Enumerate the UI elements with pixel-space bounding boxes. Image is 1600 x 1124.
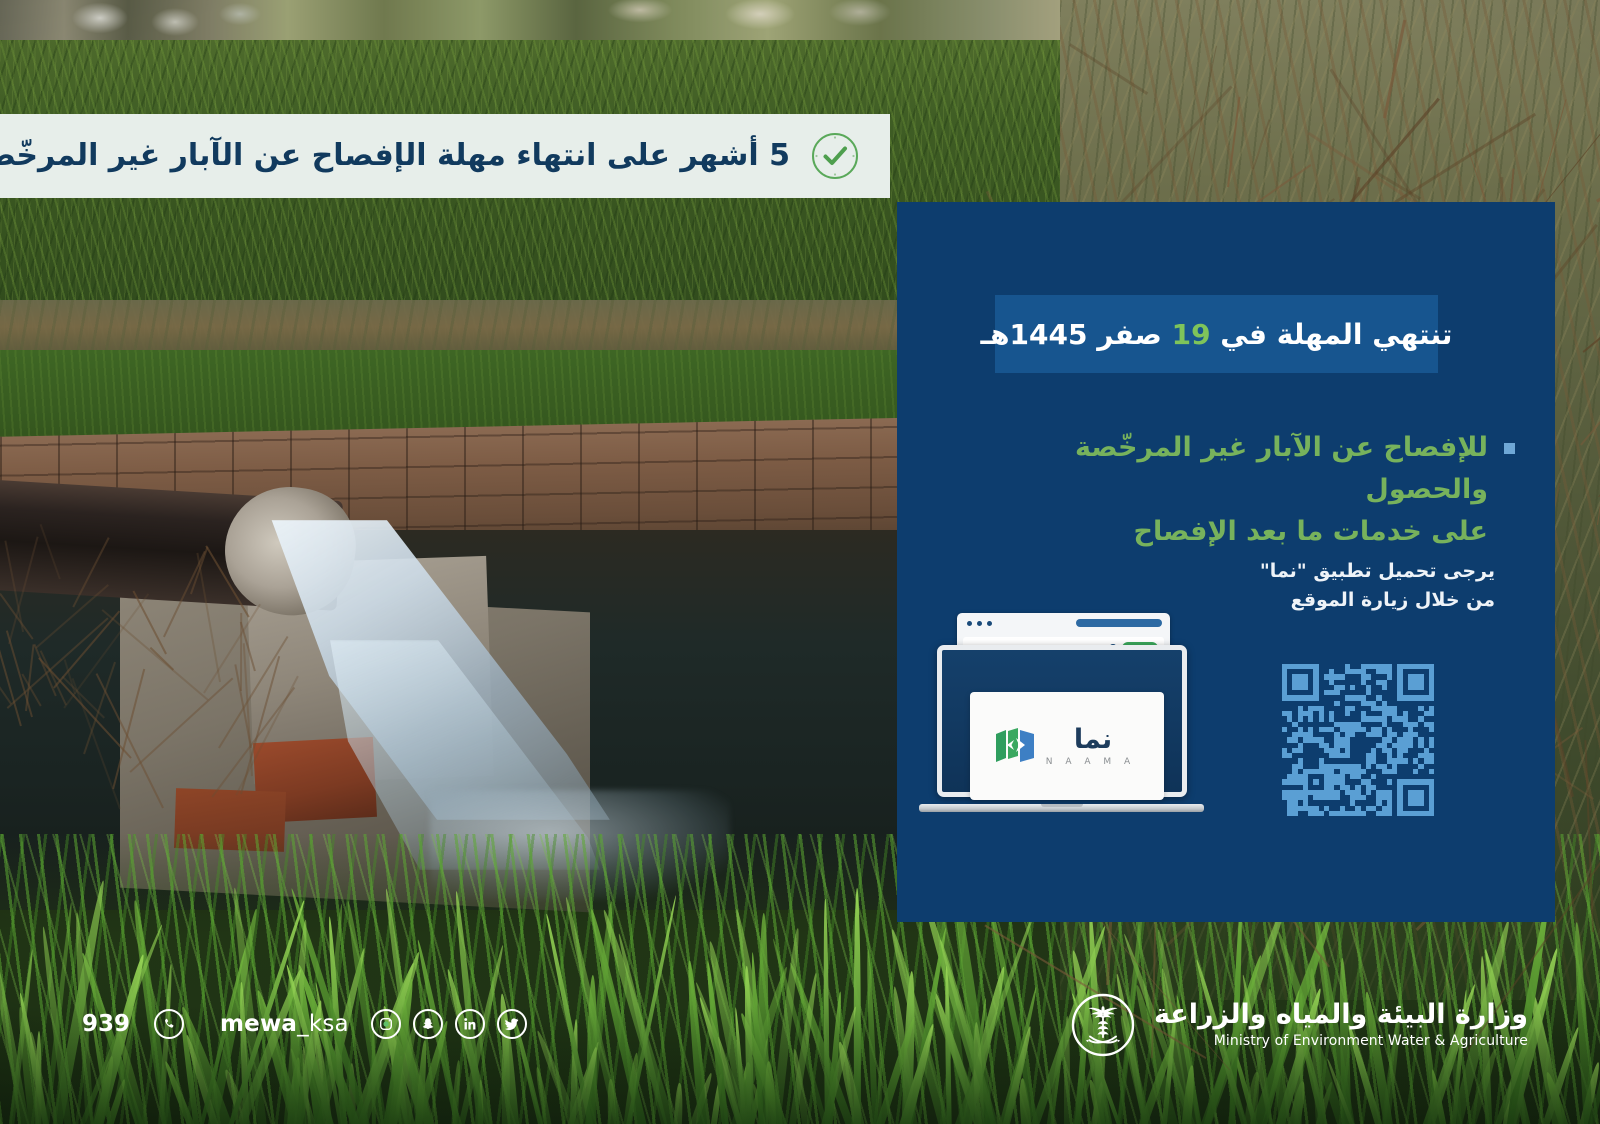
bullet-line-1: للإفصاح عن الآبار غير المرخّصة والحصول [945, 427, 1488, 511]
poster-root: 5 أشهر على انتهاء مهلة الإفصاح عن الآبار… [0, 0, 1600, 1124]
deadline-text: تنتهي المهلة في 19 صفر 1445هـ [981, 318, 1453, 351]
social-bar: mewa_ksa 939 [82, 1004, 527, 1044]
naama-logo-latin: N A A M A [1046, 757, 1140, 767]
bullet-line-2: على خدمات ما بعد الإفصاح [945, 511, 1488, 553]
ministry-name-arabic: وزارة البيئة والمياه والزراعة [1154, 999, 1528, 1030]
handle-light: _ksa [297, 1011, 349, 1037]
snapchat-icon[interactable] [413, 1009, 443, 1039]
square-bullet-icon [1504, 443, 1515, 454]
ministry-logo: وزارة البيئة والمياه والزراعة Ministry o… [1070, 990, 1528, 1060]
browser-url-bar [1076, 619, 1162, 627]
saudi-palm-swords-emblem-icon [1070, 992, 1136, 1058]
laptop-screen: نما N A A M A [937, 645, 1187, 797]
header-banner: 5 أشهر على انتهاء مهلة الإفصاح عن الآبار… [0, 114, 890, 198]
handle-bold: mewa [220, 1011, 297, 1037]
phone-icon [154, 1009, 184, 1039]
instagram-icon[interactable] [371, 1009, 401, 1039]
deadline-number: 19 [1172, 318, 1211, 351]
linkedin-icon[interactable] [455, 1009, 485, 1039]
deadline-banner: تنتهي المهلة في 19 صفر 1445هـ [995, 295, 1438, 373]
page-title: 5 أشهر على انتهاء مهلة الإفصاح عن الآبار… [0, 137, 790, 175]
check-circle-icon [808, 129, 862, 183]
qr-code[interactable] [1282, 664, 1434, 816]
window-dots-icon [967, 621, 992, 626]
twitter-icon[interactable] [497, 1009, 527, 1039]
naama-logo-card: نما N A A M A [970, 692, 1164, 800]
ministry-name-english: Ministry of Environment Water & Agricult… [1154, 1032, 1528, 1050]
bullet-item: للإفصاح عن الآبار غير المرخّصة والحصول ع… [945, 427, 1515, 553]
naama-logo-arabic: نما [1046, 726, 1140, 753]
laptop-mockup: نما N A A M A [919, 607, 1204, 812]
naama-logo-mark-icon [994, 728, 1036, 764]
note-line-1: يرجى تحميل تطبيق "نما" [1075, 557, 1495, 586]
info-panel: تنتهي المهلة في 19 صفر 1445هـ للإفصاح عن… [897, 202, 1555, 922]
bullet-text: للإفصاح عن الآبار غير المرخّصة والحصول ع… [945, 427, 1488, 553]
deadline-suffix: صفر 1445هـ [981, 318, 1172, 351]
social-handle: mewa_ksa [220, 1011, 349, 1037]
deadline-prefix: تنتهي المهلة في [1211, 318, 1453, 351]
phone-number: 939 [82, 1011, 130, 1037]
